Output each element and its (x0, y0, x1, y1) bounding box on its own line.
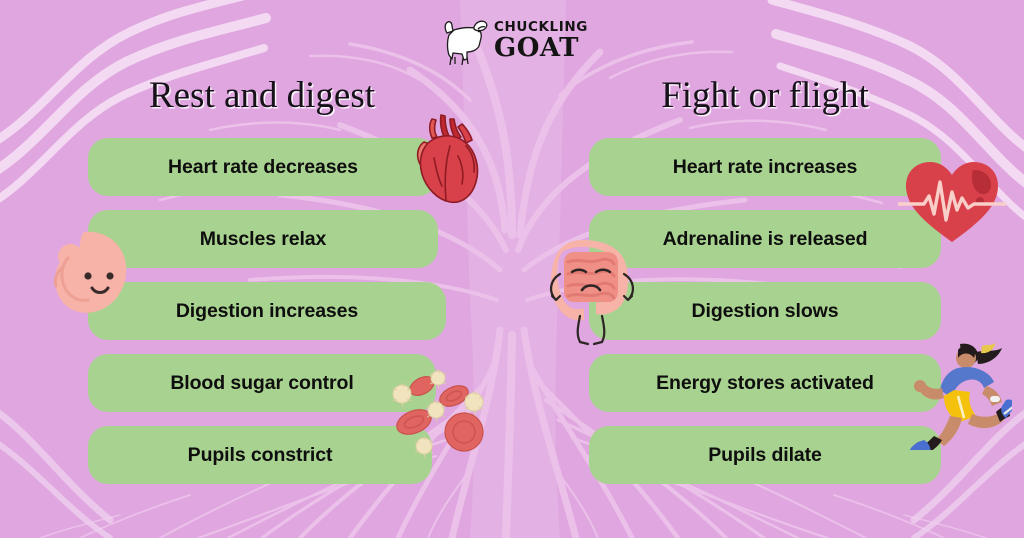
pill-item[interactable]: Blood sugar control (88, 354, 436, 412)
heading-fight-or-flight: Fight or flight (560, 74, 970, 117)
pill-item[interactable]: Muscles relax (88, 210, 438, 268)
pill-label: Heart rate increases (673, 156, 857, 179)
pill-label: Energy stores activated (656, 372, 874, 395)
column-rest-and-digest: Heart rate decreases Muscles relax Diges… (88, 138, 438, 498)
pill-label: Pupils constrict (188, 444, 333, 467)
pill-label: Adrenaline is released (663, 228, 868, 251)
pill-item[interactable]: Digestion increases (88, 282, 446, 340)
pill-label: Muscles relax (200, 228, 327, 251)
goat-icon (438, 11, 490, 67)
column-fight-or-flight: Heart rate increases Adrenaline is relea… (589, 138, 941, 498)
logo-line-chuckling: CHUCKLING (494, 21, 588, 35)
pill-label: Digestion slows (692, 300, 839, 323)
brand-logo: CHUCKLING GOAT (438, 8, 588, 70)
pill-item[interactable]: Energy stores activated (589, 354, 941, 412)
pill-label: Heart rate decreases (168, 156, 358, 179)
pill-item[interactable]: Heart rate increases (589, 138, 941, 196)
pill-label: Digestion increases (176, 300, 358, 323)
logo-line-goat: GOAT (494, 35, 588, 61)
pill-label: Pupils dilate (708, 444, 822, 467)
pill-item[interactable]: Digestion slows (589, 282, 941, 340)
pill-label: Blood sugar control (170, 372, 353, 395)
infographic-canvas: CHUCKLING GOAT Rest and digest Fight or … (0, 0, 1024, 538)
pill-item[interactable]: Pupils dilate (589, 426, 941, 484)
heading-rest-and-digest: Rest and digest (0, 74, 524, 117)
pill-item[interactable]: Heart rate decreases (88, 138, 438, 196)
pill-item[interactable]: Pupils constrict (88, 426, 432, 484)
pill-item[interactable]: Adrenaline is released (589, 210, 941, 268)
